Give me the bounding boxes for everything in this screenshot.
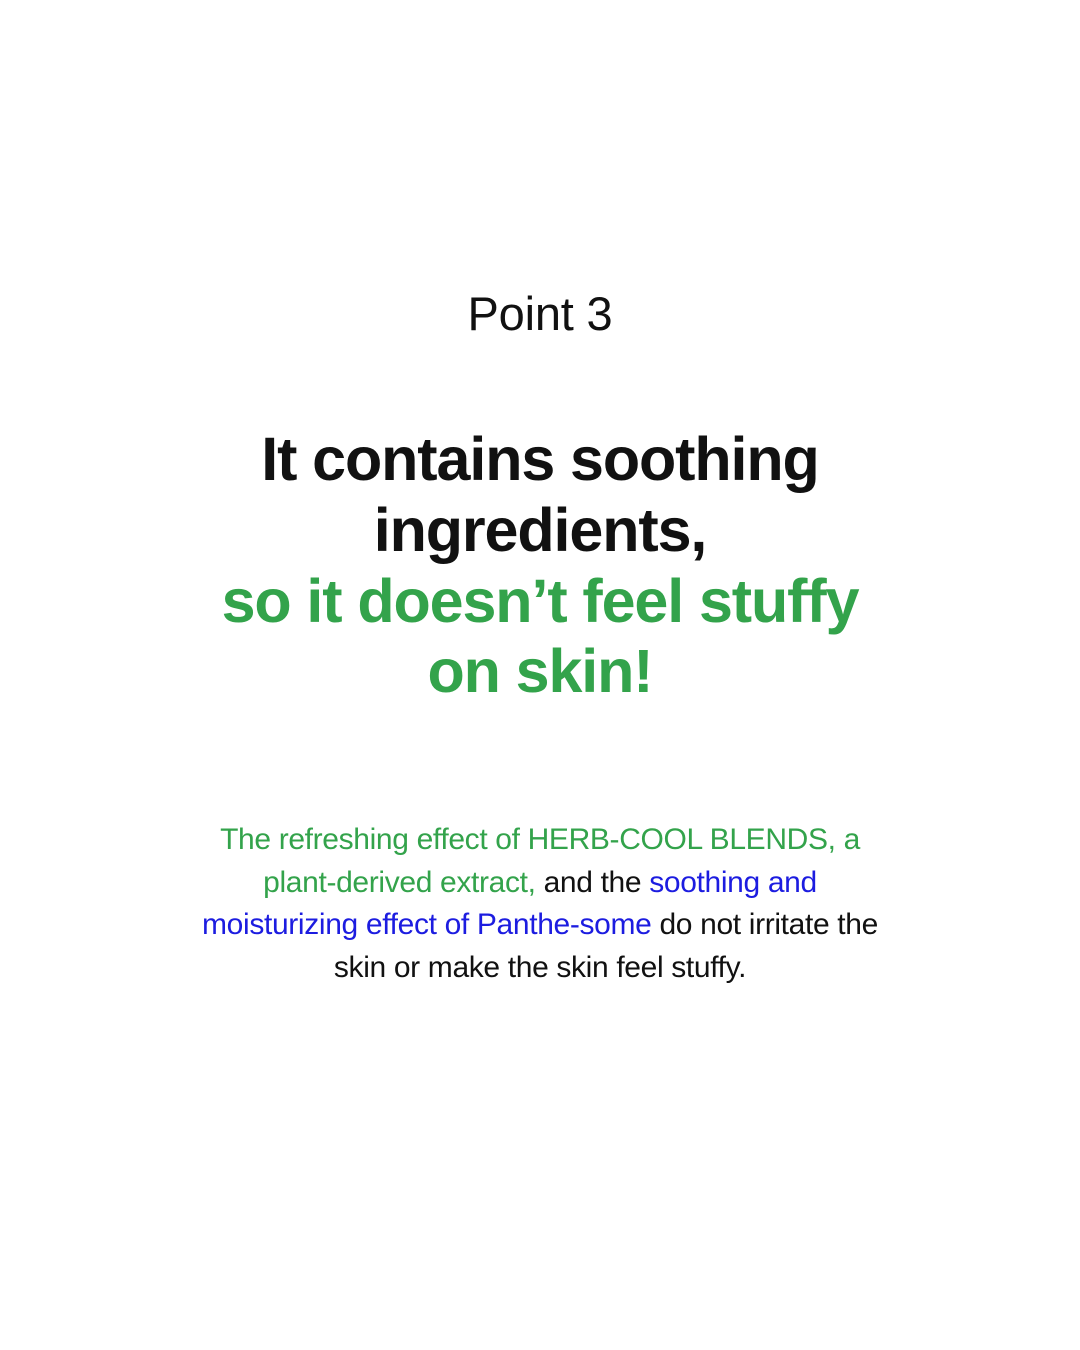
- headline-line-4-accent: on skin!: [190, 636, 890, 707]
- headline-line-2: ingredients,: [190, 495, 890, 566]
- headline-line-1: It contains soothing: [190, 424, 890, 495]
- slide-canvas: Point 3 It contains soothing ingredients…: [0, 0, 1080, 1350]
- headline: It contains soothing ingredients, so it …: [190, 424, 890, 707]
- body-paragraph: The refreshing effect of HERB-COOL BLEND…: [187, 819, 893, 989]
- point-label: Point 3: [0, 288, 1080, 340]
- headline-line-3-accent: so it doesn’t feel stuffy: [190, 566, 890, 637]
- body-segment-connector: and the: [536, 866, 650, 899]
